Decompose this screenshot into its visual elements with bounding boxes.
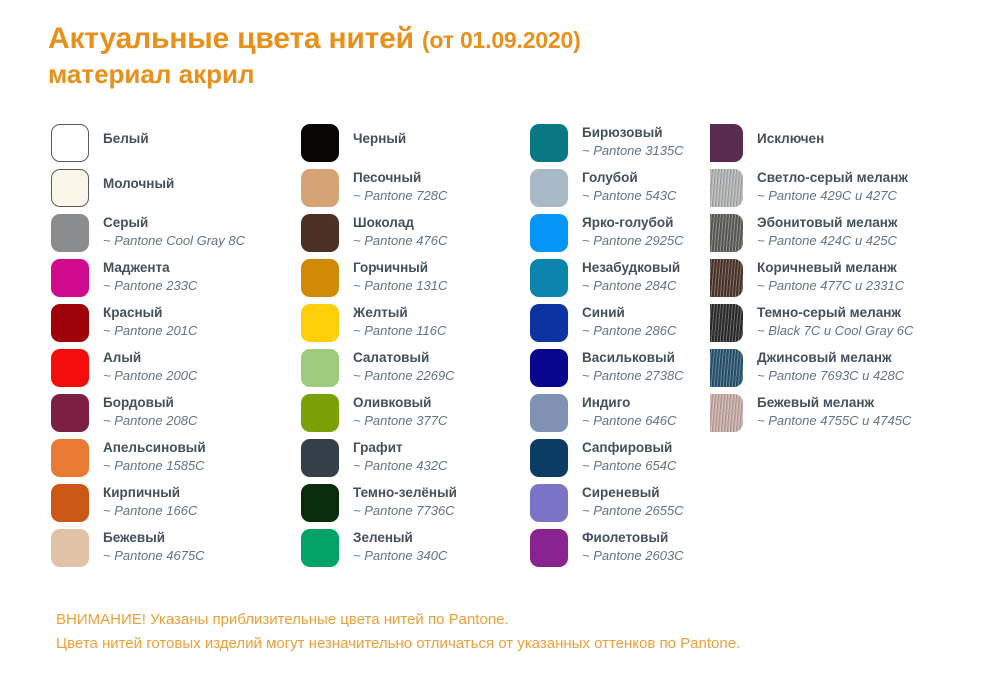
color-name: Бежевый меланж (757, 394, 911, 411)
color-labels: Серый~ Pantone Cool Gray 8C (103, 213, 245, 249)
color-pantone-code: ~ Pantone 4755C и 4745C (757, 412, 911, 429)
color-column-1: БелыйМолочныйСерый~ Pantone Cool Gray 8C… (0, 123, 253, 573)
color-swatch (51, 169, 89, 207)
color-name: Эбонитовый меланж (757, 214, 898, 231)
color-labels: Шоколад~ Pantone 476C (353, 213, 447, 249)
color-labels: Красный~ Pantone 201C (103, 303, 197, 339)
color-name: Белый (103, 130, 149, 147)
color-swatch (301, 484, 339, 522)
color-name: Бирюзовый (582, 124, 684, 141)
color-row[interactable]: Песочный~ Pantone 728C (301, 168, 479, 213)
color-name: Ярко-голубой (582, 214, 684, 231)
color-labels: Апельсиновый~ Pantone 1585C (103, 438, 206, 474)
color-pantone-code: ~ Pantone 201C (103, 322, 197, 339)
color-row[interactable]: Маджента~ Pantone 233C (51, 258, 253, 303)
color-chart-page: Актуальные цвета нитей (от 01.09.2020) м… (0, 0, 1000, 680)
color-pantone-code: ~ Pantone 233C (103, 277, 197, 294)
color-row[interactable]: Сапфировый~ Pantone 654C (530, 438, 705, 483)
color-swatch (301, 349, 339, 387)
color-name: Исключен (757, 130, 824, 147)
color-name: Алый (103, 349, 197, 366)
color-swatch (530, 259, 568, 297)
color-row[interactable]: Светло-серый меланж~ Pantone 429C и 427C (710, 168, 1000, 213)
color-swatch (710, 169, 743, 207)
color-swatch (51, 529, 89, 567)
color-pantone-code: ~ Pantone 208C (103, 412, 197, 429)
color-name: Синий (582, 304, 676, 321)
color-swatch (530, 529, 568, 567)
color-labels: Оливковый~ Pantone 377C (353, 393, 447, 429)
color-column-4: ИсключенСветло-серый меланж~ Pantone 429… (705, 123, 1000, 573)
color-row[interactable]: Графит~ Pantone 432C (301, 438, 479, 483)
page-header: Актуальные цвета нитей (от 01.09.2020) м… (48, 22, 581, 90)
color-pantone-code: ~ Pantone 2738C (582, 367, 684, 384)
color-row[interactable]: Темно-зелёный~ Pantone 7736C (301, 483, 479, 528)
color-pantone-code: ~ Black 7C и Cool Gray 6C (757, 322, 913, 339)
color-swatch (301, 529, 339, 567)
color-labels: Коричневый меланж~ Pantone 477C и 2331C (757, 258, 904, 294)
color-row[interactable]: Молочный (51, 168, 253, 213)
color-swatch (710, 124, 743, 162)
color-swatch (710, 304, 743, 342)
color-row[interactable]: Ярко-голубой~ Pantone 2925C (530, 213, 705, 258)
color-swatch (51, 259, 89, 297)
color-pantone-code: ~ Pantone 340C (353, 547, 447, 564)
color-columns: БелыйМолочныйСерый~ Pantone Cool Gray 8C… (0, 123, 1000, 573)
color-row[interactable]: Индиго~ Pantone 646C (530, 393, 705, 438)
color-labels: Эбонитовый меланж~ Pantone 424C и 425C (757, 213, 898, 249)
color-swatch (301, 259, 339, 297)
color-labels: Алый~ Pantone 200C (103, 348, 197, 384)
color-name: Графит (353, 439, 447, 456)
color-row[interactable]: Сиреневый~ Pantone 2655C (530, 483, 705, 528)
color-labels: Незабудковый~ Pantone 284C (582, 258, 680, 294)
color-row[interactable]: Эбонитовый меланж~ Pantone 424C и 425C (710, 213, 1000, 258)
color-swatch (530, 124, 568, 162)
color-pantone-code: ~ Pantone 166C (103, 502, 197, 519)
color-swatch (301, 169, 339, 207)
color-pantone-code: ~ Pantone 7736C (353, 502, 457, 519)
color-row[interactable]: Белый (51, 123, 253, 168)
color-name: Апельсиновый (103, 439, 206, 456)
color-labels: Джинсовый меланж~ Pantone 7693C и 428C (757, 348, 904, 384)
color-name: Коричневый меланж (757, 259, 904, 276)
color-swatch (301, 304, 339, 342)
color-name: Молочный (103, 175, 174, 192)
color-name: Песочный (353, 169, 447, 186)
color-name: Маджента (103, 259, 197, 276)
color-swatch (51, 214, 89, 252)
color-row[interactable]: Фиолетовый~ Pantone 2603C (530, 528, 705, 573)
color-row[interactable]: Синий~ Pantone 286C (530, 303, 705, 348)
color-row[interactable]: Шоколад~ Pantone 476C (301, 213, 479, 258)
color-pantone-code: ~ Pantone 200C (103, 367, 197, 384)
color-name: Кирпичный (103, 484, 197, 501)
color-labels: Бирюзовый~ Pantone 3135C (582, 123, 684, 159)
color-name: Бордовый (103, 394, 197, 411)
color-labels: Ярко-голубой~ Pantone 2925C (582, 213, 684, 249)
color-pantone-code: ~ Pantone 116C (353, 322, 446, 339)
color-labels: Молочный (103, 168, 174, 192)
color-swatch (530, 169, 568, 207)
color-swatch (51, 124, 89, 162)
color-pantone-code: ~ Pantone 286C (582, 322, 676, 339)
color-row[interactable]: Голубой~ Pantone 543C (530, 168, 705, 213)
page-title: Актуальные цвета нитей (от 01.09.2020) (48, 22, 581, 57)
color-swatch (301, 124, 339, 162)
color-name: Светло-серый меланж (757, 169, 908, 186)
color-pantone-code: ~ Pantone 728C (353, 187, 447, 204)
color-name: Зеленый (353, 529, 447, 546)
color-name: Салатовый (353, 349, 455, 366)
color-labels: Маджента~ Pantone 233C (103, 258, 197, 294)
color-name: Шоколад (353, 214, 447, 231)
color-pantone-code: ~ Pantone 424C и 425C (757, 232, 898, 249)
color-name: Фиолетовый (582, 529, 684, 546)
color-pantone-code: ~ Pantone 2655C (582, 502, 684, 519)
color-row[interactable]: Красный~ Pantone 201C (51, 303, 253, 348)
color-name: Черный (353, 130, 406, 147)
footer-line-1: ВНИМАНИЕ! Указаны приблизительные цвета … (56, 608, 740, 632)
color-pantone-code: ~ Pantone 2269C (353, 367, 455, 384)
color-row[interactable]: Кирпичный~ Pantone 166C (51, 483, 253, 528)
color-pantone-code: ~ Pantone 654C (582, 457, 676, 474)
color-pantone-code: ~ Pantone 7693C и 428C (757, 367, 904, 384)
color-row[interactable]: Апельсиновый~ Pantone 1585C (51, 438, 253, 483)
color-pantone-code: ~ Pantone 2603C (582, 547, 684, 564)
color-swatch (301, 439, 339, 477)
color-swatch (301, 214, 339, 252)
color-pantone-code: ~ Pantone 476C (353, 232, 447, 249)
color-labels: Светло-серый меланж~ Pantone 429C и 427C (757, 168, 908, 204)
color-name: Оливковый (353, 394, 447, 411)
color-name: Незабудковый (582, 259, 680, 276)
color-pantone-code: ~ Pantone 2925C (582, 232, 684, 249)
page-subtitle: материал акрил (48, 58, 581, 90)
color-name: Серый (103, 214, 245, 231)
color-pantone-code: ~ Pantone 131C (353, 277, 447, 294)
color-row[interactable]: Бирюзовый~ Pantone 3135C (530, 123, 705, 168)
color-row[interactable]: Салатовый~ Pantone 2269C (301, 348, 479, 393)
color-swatch (710, 394, 743, 432)
color-row[interactable]: Темно-серый меланж~ Black 7C и Cool Gray… (710, 303, 1000, 348)
color-labels: Черный (353, 123, 406, 147)
color-labels: Голубой~ Pantone 543C (582, 168, 676, 204)
color-row[interactable]: Джинсовый меланж~ Pantone 7693C и 428C (710, 348, 1000, 393)
color-row[interactable]: Бежевый меланж~ Pantone 4755C и 4745C (710, 393, 1000, 438)
page-title-main: Актуальные цвета нитей (48, 22, 414, 55)
color-name: Красный (103, 304, 197, 321)
color-labels: Графит~ Pantone 432C (353, 438, 447, 474)
color-name: Горчичный (353, 259, 447, 276)
color-row[interactable]: Алый~ Pantone 200C (51, 348, 253, 393)
color-row[interactable]: Исключен (710, 123, 1000, 168)
color-labels: Исключен (757, 123, 824, 147)
color-labels: Салатовый~ Pantone 2269C (353, 348, 455, 384)
color-row[interactable]: Серый~ Pantone Cool Gray 8C (51, 213, 253, 258)
color-swatch (301, 394, 339, 432)
color-swatch (51, 304, 89, 342)
color-row[interactable]: Незабудковый~ Pantone 284C (530, 258, 705, 303)
color-swatch (530, 439, 568, 477)
color-row[interactable]: Бордовый~ Pantone 208C (51, 393, 253, 438)
color-labels: Синий~ Pantone 286C (582, 303, 676, 339)
color-name: Сиреневый (582, 484, 684, 501)
color-row[interactable]: Зеленый~ Pantone 340C (301, 528, 479, 573)
color-labels: Желтый~ Pantone 116C (353, 303, 446, 339)
color-labels: Кирпичный~ Pantone 166C (103, 483, 197, 519)
color-swatch (51, 439, 89, 477)
color-labels: Бежевый меланж~ Pantone 4755C и 4745C (757, 393, 911, 429)
color-labels: Васильковый~ Pantone 2738C (582, 348, 684, 384)
color-labels: Темно-серый меланж~ Black 7C и Cool Gray… (757, 303, 913, 339)
color-name: Бежевый (103, 529, 205, 546)
color-pantone-code: ~ Pantone 646C (582, 412, 676, 429)
color-pantone-code: ~ Pantone 3135C (582, 142, 684, 159)
color-name: Сапфировый (582, 439, 676, 456)
color-labels: Песочный~ Pantone 728C (353, 168, 447, 204)
color-labels: Горчичный~ Pantone 131C (353, 258, 447, 294)
color-labels: Индиго~ Pantone 646C (582, 393, 676, 429)
color-name: Джинсовый меланж (757, 349, 904, 366)
color-swatch (51, 394, 89, 432)
color-pantone-code: ~ Pantone 477C и 2331C (757, 277, 904, 294)
color-name: Темно-зелёный (353, 484, 457, 501)
color-swatch (710, 349, 743, 387)
color-row[interactable]: Оливковый~ Pantone 377C (301, 393, 479, 438)
color-labels: Сапфировый~ Pantone 654C (582, 438, 676, 474)
color-pantone-code: ~ Pantone 429C и 427C (757, 187, 908, 204)
footer-line-2: Цвета нитей готовых изделий могут незнач… (56, 632, 740, 656)
color-swatch (51, 484, 89, 522)
color-pantone-code: ~ Pantone 432C (353, 457, 447, 474)
color-pantone-code: ~ Pantone 4675C (103, 547, 205, 564)
color-row[interactable]: Васильковый~ Pantone 2738C (530, 348, 705, 393)
color-pantone-code: ~ Pantone 284C (582, 277, 680, 294)
color-labels: Фиолетовый~ Pantone 2603C (582, 528, 684, 564)
color-name: Желтый (353, 304, 446, 321)
color-name: Темно-серый меланж (757, 304, 913, 321)
color-labels: Зеленый~ Pantone 340C (353, 528, 447, 564)
color-column-3: Бирюзовый~ Pantone 3135CГолубой~ Pantone… (479, 123, 705, 573)
color-row[interactable]: Черный (301, 123, 479, 168)
color-pantone-code: ~ Pantone 1585C (103, 457, 206, 474)
color-row[interactable]: Желтый~ Pantone 116C (301, 303, 479, 348)
color-pantone-code: ~ Pantone Cool Gray 8C (103, 232, 245, 249)
page-title-date: (от 01.09.2020) (422, 27, 581, 53)
color-labels: Белый (103, 123, 149, 147)
color-pantone-code: ~ Pantone 377C (353, 412, 447, 429)
color-swatch (530, 349, 568, 387)
color-name: Голубой (582, 169, 676, 186)
color-row[interactable]: Бежевый~ Pantone 4675C (51, 528, 253, 573)
color-name: Васильковый (582, 349, 684, 366)
color-swatch (530, 394, 568, 432)
color-swatch (51, 349, 89, 387)
color-name: Индиго (582, 394, 676, 411)
color-labels: Бордовый~ Pantone 208C (103, 393, 197, 429)
color-swatch (710, 214, 743, 252)
color-pantone-code: ~ Pantone 543C (582, 187, 676, 204)
color-row[interactable]: Горчичный~ Pantone 131C (301, 258, 479, 303)
color-labels: Сиреневый~ Pantone 2655C (582, 483, 684, 519)
color-column-2: ЧерныйПесочный~ Pantone 728CШоколад~ Pan… (253, 123, 479, 573)
footer-note: ВНИМАНИЕ! Указаны приблизительные цвета … (56, 608, 740, 656)
color-swatch (710, 259, 743, 297)
color-row[interactable]: Коричневый меланж~ Pantone 477C и 2331C (710, 258, 1000, 303)
color-labels: Темно-зелёный~ Pantone 7736C (353, 483, 457, 519)
color-labels: Бежевый~ Pantone 4675C (103, 528, 205, 564)
color-swatch (530, 214, 568, 252)
color-swatch (530, 484, 568, 522)
color-swatch (530, 304, 568, 342)
